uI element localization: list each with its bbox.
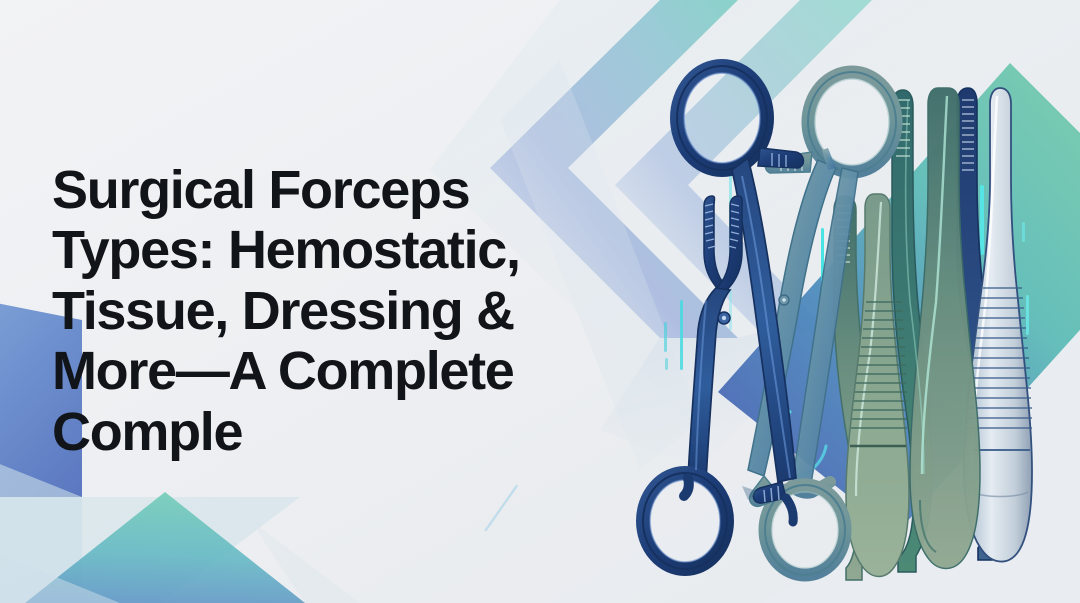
banner-image: Surgical Forceps Types: Hemostatic, Tiss… [0, 0, 1080, 603]
accent-line [664, 322, 667, 352]
page-title: Surgical Forceps Types: Hemostatic, Tiss… [52, 160, 652, 462]
accent-line [665, 358, 668, 370]
accent-line [729, 290, 732, 330]
title-block: Surgical Forceps Types: Hemostatic, Tiss… [52, 160, 652, 462]
accent-line [980, 185, 984, 255]
accent-line [1022, 222, 1025, 242]
accent-line [1026, 295, 1029, 335]
